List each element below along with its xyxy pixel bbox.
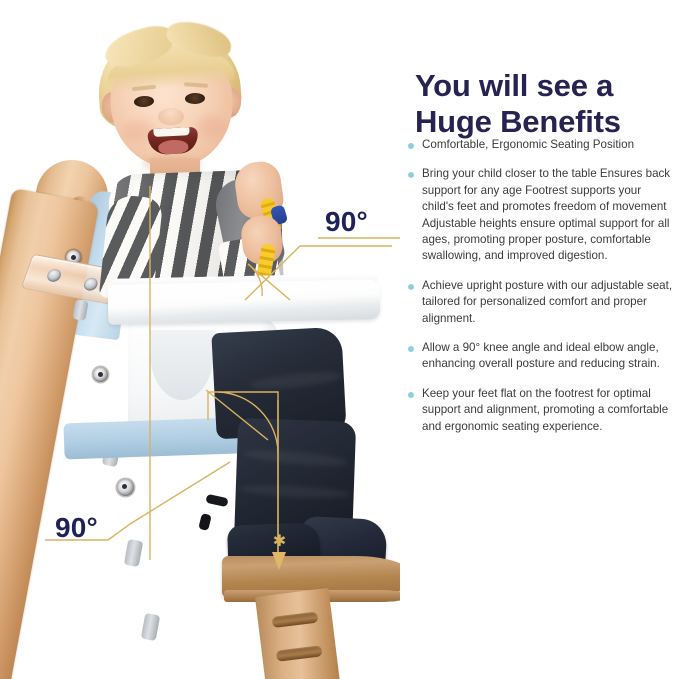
bullet-dot-icon [408,392,414,398]
infographic-page: ✱ [0,0,679,679]
page-title: You will see a Huge Benefits [415,68,665,140]
list-item: Comfortable, Ergonomic Seating Position [403,137,675,153]
chair-rung [276,645,323,662]
list-item-text: Achieve upright posture with our adjusta… [422,279,672,325]
bullet-dot-icon [408,346,414,352]
benefits-list: Comfortable, Ergonomic Seating Position … [403,137,675,448]
list-item-text: Allow a 90° knee angle and ideal elbow a… [422,341,660,370]
product-photo: ✱ [0,0,400,679]
chair-rung [272,611,319,628]
child-cheek-right [196,116,226,138]
photo-stage: ✱ [0,0,400,679]
chair-tray [108,279,381,325]
child-nose [158,108,184,125]
list-item: Allow a 90° knee angle and ideal elbow a… [403,340,675,373]
child-tongue [158,139,189,155]
list-item: Bring your child closer to the table Ens… [403,166,675,264]
bullet-dot-icon [408,143,414,149]
child-teeth [153,127,189,137]
knee-angle-label: 90° [55,512,98,544]
list-item-text: Keep your feet flat on the footrest for … [422,387,668,433]
star-icon: ✱ [272,534,287,549]
elbow-angle-label: 90° [325,206,368,238]
bullet-dot-icon [408,284,414,290]
list-item: Achieve upright posture with our adjusta… [403,278,675,327]
benefits-panel: You will see a Huge Benefits Comfortable… [400,0,679,679]
list-item-text: Bring your child closer to the table Ens… [422,167,670,262]
chair-rear-leg [255,588,343,679]
list-item: Keep your feet flat on the footrest for … [403,386,675,435]
bullet-dot-icon [408,172,414,178]
list-item-text: Comfortable, Ergonomic Seating Position [422,138,634,151]
